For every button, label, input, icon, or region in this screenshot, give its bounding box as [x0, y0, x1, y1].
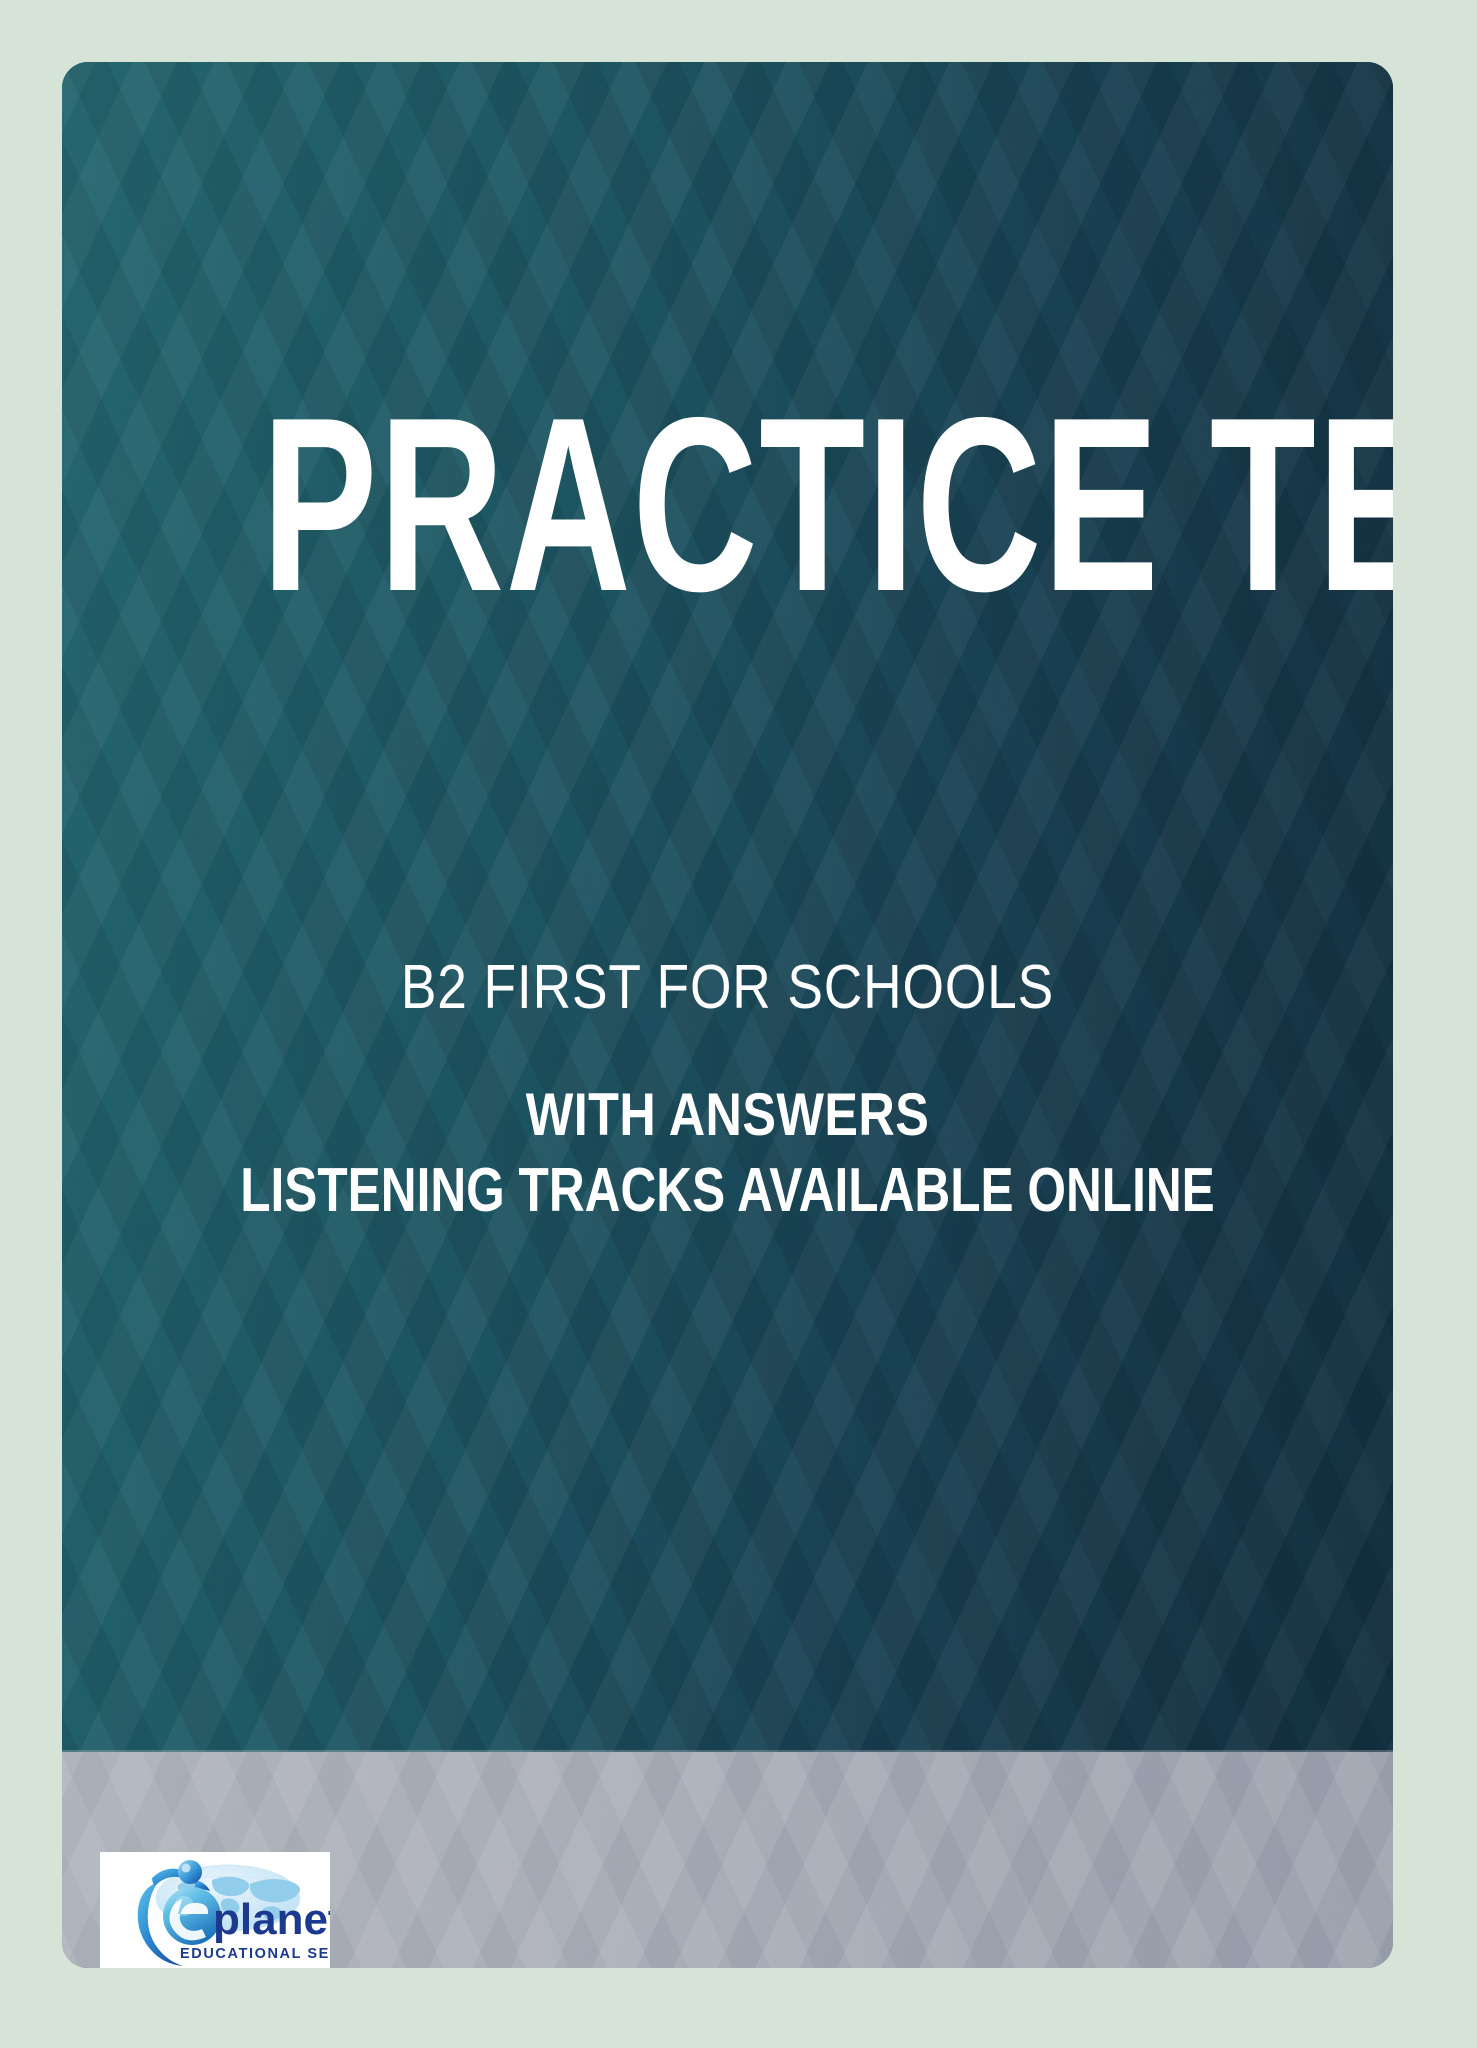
- publisher-band: planet EDUCATIONAL SERVICES: [62, 1752, 1393, 1968]
- with-answers-label: WITH ANSWERS: [168, 1085, 1286, 1145]
- listening-tracks-label: LISTENING TRACKS AVAILABLE ONLINE: [195, 1160, 1260, 1222]
- logo-tagline: EDUCATIONAL SERVICES: [180, 1946, 330, 1962]
- eplanet-logo-graphic: planet EDUCATIONAL SERVICES: [100, 1852, 330, 1968]
- exam-level-subtitle: B2 FIRST FOR SCHOOLS: [155, 957, 1300, 1019]
- book-cover: PRACTICE TESTS B2 FIRST FOR SCHOOLS WITH…: [62, 62, 1393, 1968]
- cover-text-layer: PRACTICE TESTS B2 FIRST FOR SCHOOLS WITH…: [62, 62, 1393, 1752]
- brand-wordmark: planet: [213, 1895, 330, 1944]
- page-title: PRACTICE TESTS: [262, 380, 1194, 628]
- page-root: PRACTICE TESTS B2 FIRST FOR SCHOOLS WITH…: [0, 0, 1477, 2048]
- person-head-icon: [178, 1860, 202, 1884]
- publisher-logo[interactable]: planet EDUCATIONAL SERVICES: [100, 1852, 330, 1968]
